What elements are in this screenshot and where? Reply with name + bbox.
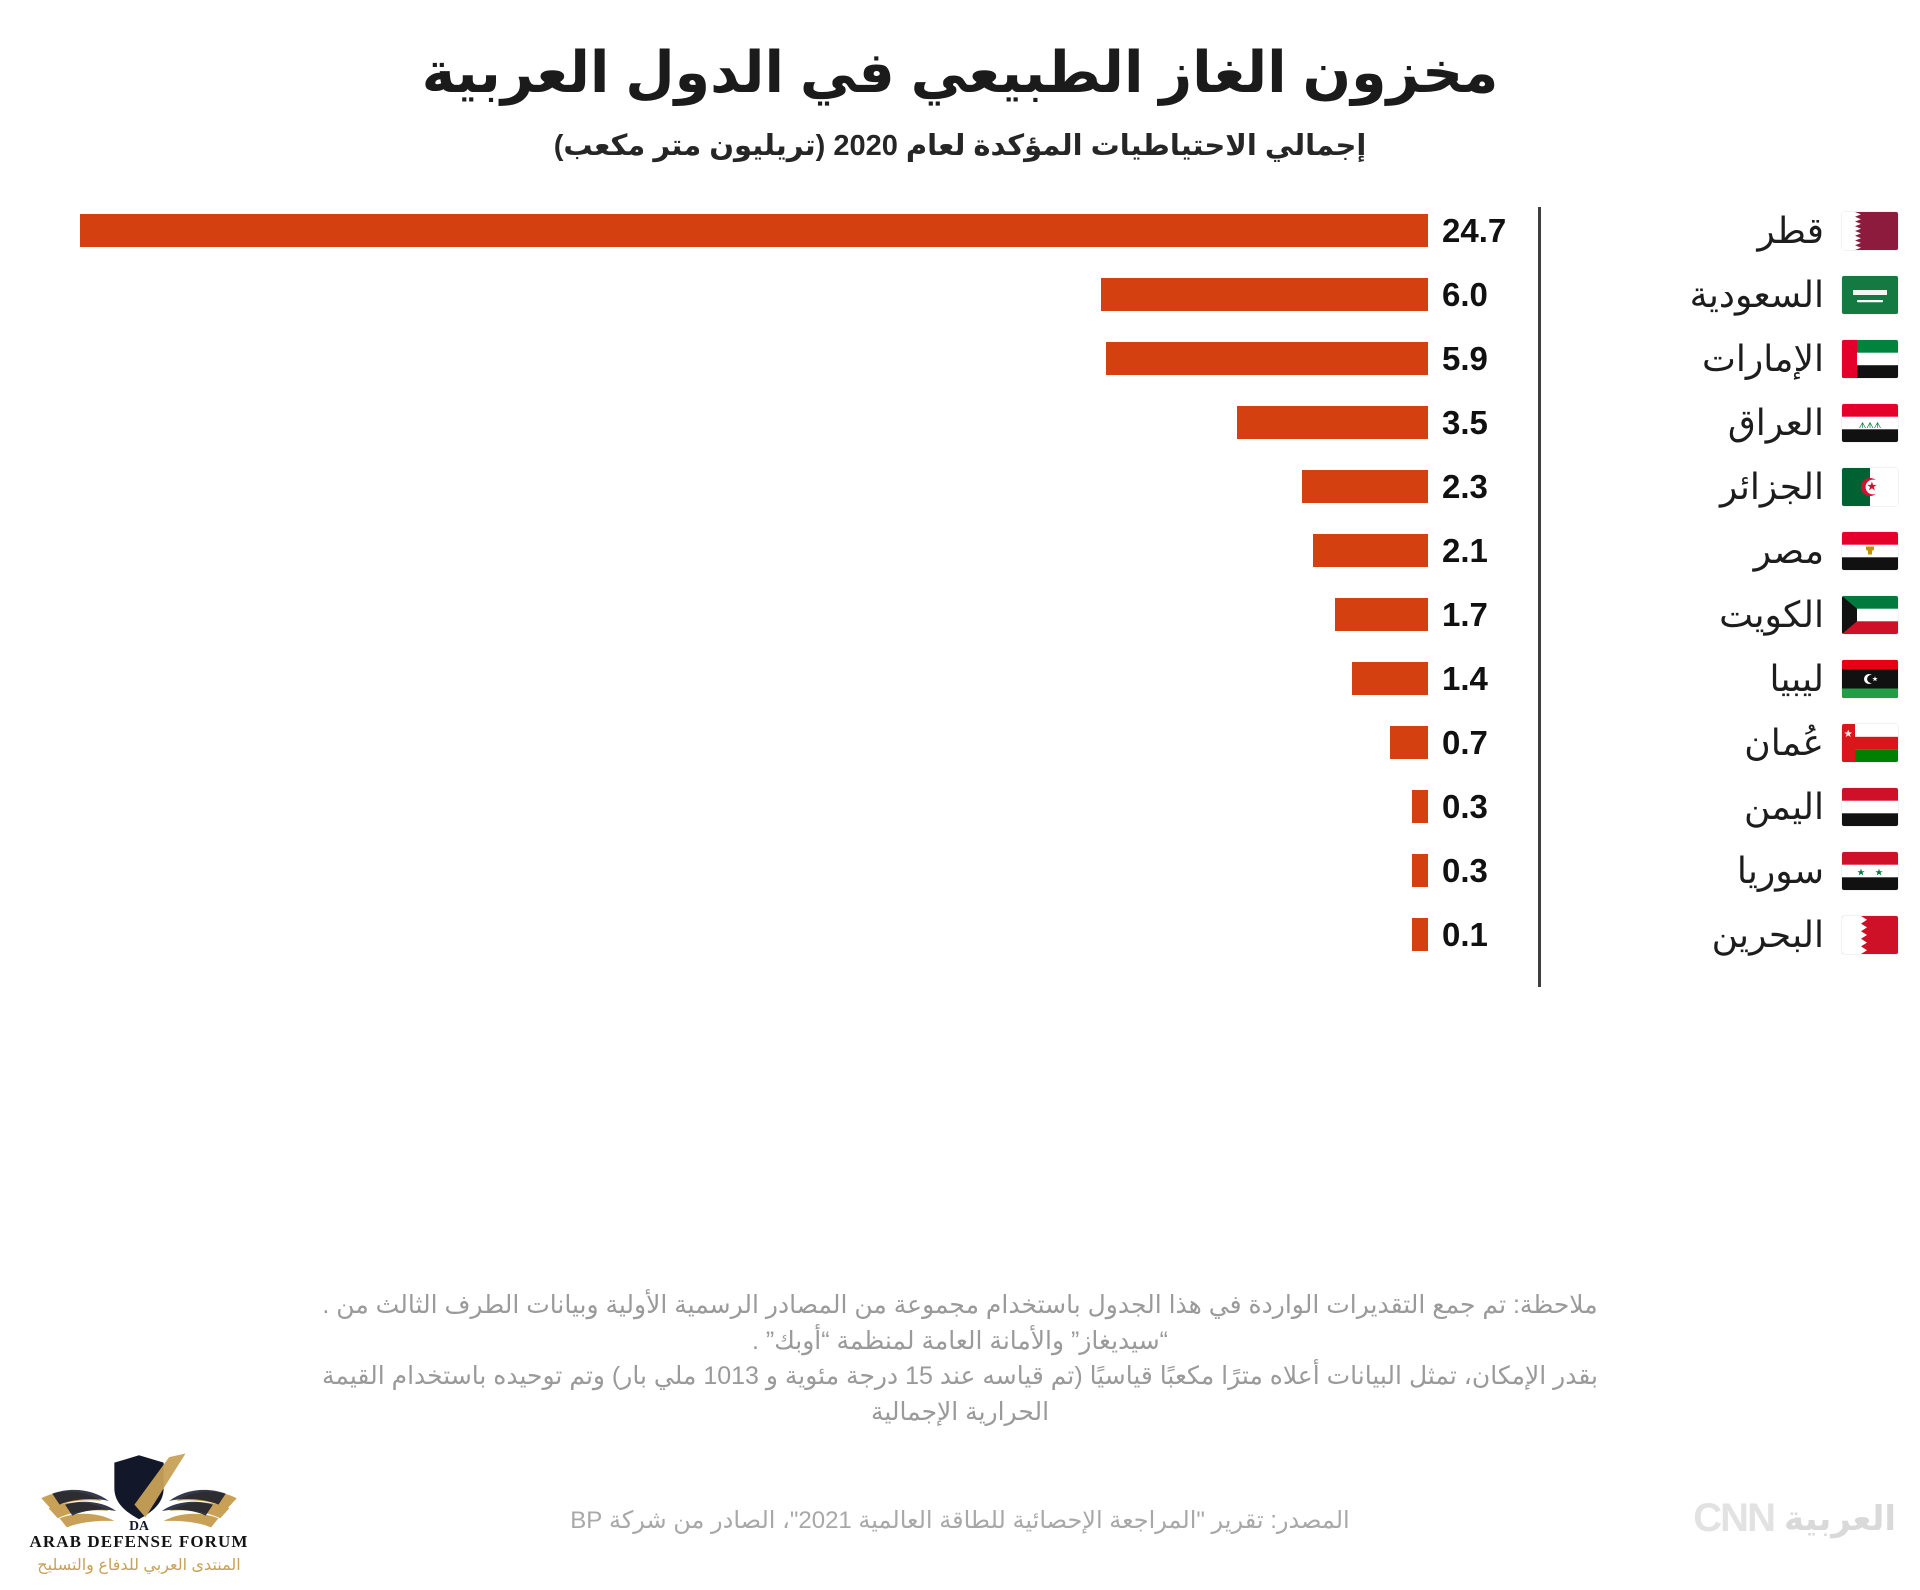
bar-chart: 24.7قطر6.0السعودية5.9الإمارات3.5ᗑᗑᗑالعرا…: [0, 199, 1920, 967]
country-name: العراق: [1728, 402, 1824, 444]
bar: [1412, 918, 1428, 951]
bar-value-label: 6.0: [1428, 276, 1488, 314]
bar-value-label: 0.3: [1428, 852, 1488, 890]
arab-defense-forum-logo: DA ARAB DEFENSE FORUM المنتدى العربي للد…: [14, 1448, 264, 1586]
saudi-arabia-flag: [1842, 276, 1898, 314]
adf-logo-name: ARAB DEFENSE FORUM: [14, 1532, 264, 1552]
chart-rows: 24.7قطر6.0السعودية5.9الإمارات3.5ᗑᗑᗑالعرا…: [0, 199, 1920, 967]
chart-axis-line: [1538, 207, 1541, 987]
bar-value-label: 2.1: [1428, 532, 1488, 570]
bar-value-label: 3.5: [1428, 404, 1488, 442]
country-label-group: سوريا: [1542, 839, 1920, 903]
chart-row: 1.4ليبيا: [0, 647, 1920, 711]
cnn-logo-arabic-text: العربية: [1784, 1499, 1896, 1539]
country-name: ليبيا: [1769, 658, 1824, 700]
algeria-flag: [1842, 468, 1898, 506]
chart-row: 5.9الإمارات: [0, 327, 1920, 391]
footnotes: ملاحظة: تم جمع التقديرات الواردة في هذا …: [0, 1288, 1920, 1430]
bar: [1313, 534, 1428, 567]
bar-group: 2.1: [1313, 519, 1538, 583]
bar-group: 6.0: [1101, 263, 1538, 327]
chart-row: 6.0السعودية: [0, 263, 1920, 327]
bar: [1302, 470, 1428, 503]
page-title: مخزون الغاز الطبيعي في الدول العربية: [0, 42, 1920, 106]
chart-row: 0.1البحرين: [0, 903, 1920, 967]
qatar-flag: [1842, 212, 1898, 250]
adf-logo-arabic: المنتدى العربي للدفاع والتسليح: [14, 1555, 264, 1575]
bar: [1237, 406, 1428, 439]
uae-flag: [1842, 340, 1898, 378]
bar: [1412, 790, 1428, 823]
country-label-group: البحرين: [1542, 903, 1920, 967]
chart-row: 0.3سوريا: [0, 839, 1920, 903]
kuwait-flag: [1842, 596, 1898, 634]
oman-flag: [1842, 724, 1898, 762]
bahrain-flag: [1842, 916, 1898, 954]
bar: [1101, 278, 1428, 311]
bar: [1390, 726, 1428, 759]
yemen-flag: [1842, 788, 1898, 826]
iraq-flag: ᗑᗑᗑ: [1842, 404, 1898, 442]
country-name: قطر: [1757, 210, 1824, 252]
source-note: المصدر: تقرير "المراجعة الإحصائية للطاقة…: [0, 1506, 1920, 1535]
bar-value-label: 0.1: [1428, 916, 1488, 954]
footnote-line-1: ملاحظة: تم جمع التقديرات الواردة في هذا …: [120, 1288, 1800, 1324]
bar: [1412, 854, 1428, 887]
footnote-line-4: الحرارية الإجمالية: [120, 1395, 1800, 1431]
country-label-group: مصر: [1542, 519, 1920, 583]
infographic-header: مخزون الغاز الطبيعي في الدول العربية إجم…: [0, 0, 1920, 163]
chart-row: 2.1مصر: [0, 519, 1920, 583]
bar: [80, 214, 1428, 247]
chart-row: 3.5ᗑᗑᗑالعراق: [0, 391, 1920, 455]
bar-group: 0.3: [1412, 839, 1538, 903]
bar-group: 1.7: [1335, 583, 1538, 647]
bar-value-label: 0.7: [1428, 724, 1488, 762]
bar-group: 2.3: [1302, 455, 1538, 519]
bar-group: 24.7: [80, 199, 1538, 263]
country-label-group: الجزائر: [1542, 455, 1920, 519]
country-name: اليمن: [1744, 786, 1824, 828]
bar-value-label: 1.4: [1428, 660, 1488, 698]
country-label-group: اليمن: [1542, 775, 1920, 839]
bar: [1335, 598, 1428, 631]
bar-value-label: 5.9: [1428, 340, 1488, 378]
bar-value-label: 24.7: [1428, 212, 1506, 250]
libya-flag: [1842, 660, 1898, 698]
country-label-group: الإمارات: [1542, 327, 1920, 391]
bar-group: 0.3: [1412, 775, 1538, 839]
footnote-line-2: “سيديغاز” والأمانة العامة لمنظمة “أوبك” …: [120, 1324, 1800, 1360]
chart-row: 0.7عُمان: [0, 711, 1920, 775]
country-name: مصر: [1754, 530, 1824, 572]
country-label-group: ᗑᗑᗑالعراق: [1542, 391, 1920, 455]
egypt-flag: [1842, 532, 1898, 570]
adf-monogram: DA: [129, 1518, 149, 1532]
country-name: سوريا: [1737, 850, 1824, 892]
bar-value-label: 1.7: [1428, 596, 1488, 634]
country-name: السعودية: [1690, 274, 1824, 316]
chart-subtitle: إجمالي الاحتياطيات المؤكدة لعام 2020 (تر…: [0, 128, 1920, 163]
country-label-group: عُمان: [1542, 711, 1920, 775]
chart-row: 24.7قطر: [0, 199, 1920, 263]
chart-row: 1.7الكويت: [0, 583, 1920, 647]
bar: [1352, 662, 1428, 695]
country-name: البحرين: [1712, 914, 1824, 956]
cnn-arabic-logo: العربية CNN: [1693, 1496, 1896, 1541]
bar: [1106, 342, 1428, 375]
bar-group: 0.1: [1412, 903, 1538, 967]
svg-text:ᗑᗑᗑ: ᗑᗑᗑ: [1859, 421, 1882, 430]
bar-group: 1.4: [1352, 647, 1538, 711]
bar-value-label: 2.3: [1428, 468, 1488, 506]
country-label-group: ليبيا: [1542, 647, 1920, 711]
shield-wings-icon: DA: [14, 1448, 264, 1532]
syria-flag: [1842, 852, 1898, 890]
chart-plot-area: 24.7قطر6.0السعودية5.9الإمارات3.5ᗑᗑᗑالعرا…: [0, 199, 1920, 967]
country-name: الكويت: [1719, 594, 1824, 636]
chart-row: 2.3الجزائر: [0, 455, 1920, 519]
chart-row: 0.3اليمن: [0, 775, 1920, 839]
bar-group: 5.9: [1106, 327, 1538, 391]
country-name: عُمان: [1744, 722, 1824, 764]
country-label-group: السعودية: [1542, 263, 1920, 327]
bar-group: 3.5: [1237, 391, 1538, 455]
country-name: الجزائر: [1720, 466, 1824, 508]
cnn-logo-english-text: CNN: [1693, 1496, 1774, 1541]
bar-group: 0.7: [1390, 711, 1538, 775]
footnote-line-3: بقدر الإمكان، تمثل البيانات أعلاه مترًا …: [120, 1359, 1800, 1395]
country-name: الإمارات: [1702, 338, 1824, 380]
bar-value-label: 0.3: [1428, 788, 1488, 826]
country-label-group: الكويت: [1542, 583, 1920, 647]
country-label-group: قطر: [1542, 199, 1920, 263]
